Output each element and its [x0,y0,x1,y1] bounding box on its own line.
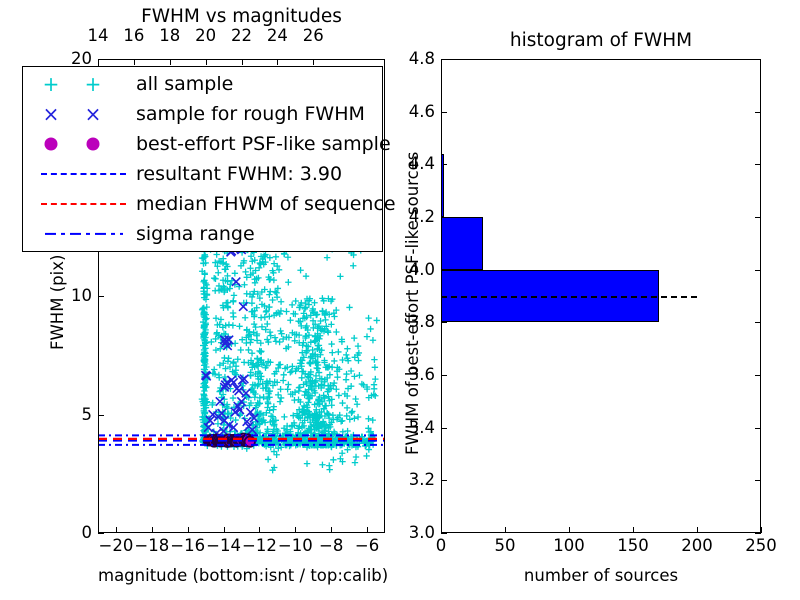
right-xaxis-label: number of sources [441,566,761,585]
legend-glyph-plus-icon: + [85,74,102,94]
figure-canvas: FWHM vs magnitudes 14161820222426 −20−18… [0,0,800,600]
scatter-point-plus [230,395,236,401]
scatter-point-plus [285,254,291,260]
scatter-point-plus [230,310,236,316]
legend-label: sample for rough FWHM [136,105,365,124]
scatter-point-plus [271,403,277,409]
scatter-point-plus [231,292,237,298]
legend-item-0[interactable]: ++all sample [31,69,382,99]
legend-glyph-cross-icon: × [85,104,102,124]
scatter-point-plus [363,453,369,459]
scatter-point-plus [242,315,248,321]
legend-glyph-dashed-line-icon [41,173,126,175]
scatter-point-plus [266,291,272,297]
scatter-point-plus [349,408,355,414]
scatter-point-plus [242,269,248,275]
scatter-point-plus [371,356,377,362]
scatter-point-plus [325,329,331,335]
right-x-tickmark [761,527,762,533]
legend-marker-dashed-line-icon [31,159,136,189]
scatter-point-plus [329,349,335,355]
legend-item-2[interactable]: best-effort PSF-like sample [31,129,382,159]
scatter-point-plus [251,321,257,327]
scatter-point-plus [249,350,255,356]
scatter-point-plus [215,270,221,276]
scatter-point-plus [355,343,361,349]
scatter-point-plus [213,315,219,321]
scatter-point-plus [277,386,283,392]
scatter-point-plus [230,322,236,328]
right-yaxis-label: FWHM of best-effort PSF-like sources [403,152,422,455]
scatter-point-plus [278,395,284,401]
scatter-point-plus [348,368,354,374]
scatter-point-plus [364,333,370,339]
scatter-point-plus [226,322,232,328]
scatter-point-plus [293,298,299,304]
legend-item-4[interactable]: median FHWM of sequence [31,189,382,219]
scatter-point-plus [335,349,341,355]
scatter-point-plus [344,428,350,434]
left-y-tick-0: 0 [12,523,92,542]
scatter-point-plus [328,341,334,347]
scatter-point-plus [280,377,286,383]
scatter-point-plus [287,369,293,375]
scatter-point-plus [212,336,218,342]
legend-entries: ++all sample××sample for rough FWHMbest-… [31,69,382,249]
scatter-point-plus [287,317,293,323]
right-y-tick-3.0: 3.0 [355,523,435,542]
scatter-point-plus [266,313,272,319]
legend-marker-dashed-line-icon [31,189,136,219]
scatter-point-plus [245,347,251,353]
legend-glyph-circle-icon [87,138,100,151]
legend-label: sigma range [136,225,255,244]
histogram-resultant-fwhm-line [442,296,697,298]
right-x-tick-250: 250 [721,536,800,555]
scatter-point-plus [304,460,310,466]
scatter-point-plus [324,254,330,260]
scatter-point-plus [249,300,255,306]
scatter-point-plus [291,397,297,403]
left-plot-title: FWHM vs magnitudes [98,6,385,27]
legend-glyph-dashdot-line-icon [45,233,123,235]
scatter-point-plus [232,270,238,276]
scatter-point-plus [317,318,323,324]
legend-marker-dashdot-line-icon [31,219,136,249]
scatter-point-plus [263,309,269,315]
scatter-point-plus [311,300,317,306]
scatter-point-plus [352,396,358,402]
scatter-point-plus [347,416,353,422]
histogram-data-layer [442,60,760,532]
scatter-point-plus [296,388,302,394]
scatter-point-plus [303,273,309,279]
right-y-tick-3.6: 3.6 [355,365,435,384]
scatter-point-plus [333,386,339,392]
scatter-point-plus [281,372,287,378]
right-y-tick-3.8: 3.8 [355,312,435,331]
scatter-point-plus [281,414,287,420]
legend-box[interactable]: ++all sample××sample for rough FWHMbest-… [22,66,383,252]
scatter-point-plus [370,337,376,343]
scatter-point-plus [337,273,343,279]
legend-item-3[interactable]: resultant FWHM: 3.90 [31,159,382,189]
scatter-point-plus [331,358,337,364]
scatter-point-plus [262,314,268,320]
scatter-point-plus [344,405,350,411]
scatter-point-plus [236,323,242,329]
legend-label: median FHWM of sequence [136,195,396,214]
scatter-point-plus [238,347,244,353]
legend-glyph-cross-icon: × [43,104,60,124]
scatter-point-plus [353,454,359,460]
left-y-tick-5: 5 [12,405,92,424]
legend-marker-plus-icon: ++ [31,69,136,99]
scatter-point-plus [344,345,350,351]
scatter-point-cross [235,387,243,395]
scatter-point-plus [330,457,336,463]
scatter-point-plus [343,371,349,377]
legend-item-1[interactable]: ××sample for rough FWHM [31,99,382,129]
scatter-point-plus [218,316,224,322]
scatter-point-plus [212,276,218,282]
left-y-tickmark [98,533,104,534]
scatter-point-plus [221,355,227,361]
scatter-point-plus [301,310,307,316]
legend-glyph-plus-icon: + [43,74,60,94]
scatter-point-plus [275,392,281,398]
scatter-point-plus [277,398,283,404]
right-y-tick-4.0: 4.0 [355,260,435,279]
scatter-point-plus [247,339,253,345]
scatter-point-plus [212,288,218,294]
scatter-point-plus [297,267,303,273]
scatter-point-plus [319,462,325,468]
right-y-tick-3.4: 3.4 [355,418,435,437]
scatter-point-plus [351,335,357,341]
scatter-point-plus [355,357,361,363]
scatter-point-plus [285,381,291,387]
scatter-point-plus [299,375,305,381]
scatter-point-plus [283,308,289,314]
left-top-tick-26: 26 [273,26,353,45]
right-y-tick-3.2: 3.2 [355,470,435,489]
legend-label: all sample [136,75,233,94]
scatter-point-plus [213,347,219,353]
legend-item-5[interactable]: sigma range [31,219,382,249]
scatter-point-plus [348,410,354,416]
scatter-point-plus [343,376,349,382]
scatter-point-plus [344,413,350,419]
scatter-point-plus [289,302,295,308]
scatter-point-plus [273,338,279,344]
scatter-point-plus [208,339,214,345]
scatter-point-plus [354,401,360,407]
legend-marker-circle-icon [31,129,136,159]
scatter-point-plus [339,450,345,456]
histogram-bar [442,154,444,217]
left-xaxis-label: magnitude (bottom:isnt / top:calib) [98,566,385,585]
scatter-point-plus [213,251,219,257]
scatter-point-plus [372,393,378,399]
legend-glyph-dashed-line-icon [41,203,126,205]
scatter-point-plus [258,349,264,355]
right-plot-title: histogram of FWHM [441,30,761,51]
scatter-point-plus [230,298,236,304]
scatter-point-plus [265,456,271,462]
legend-label: resultant FWHM: 3.90 [136,165,342,184]
scatter-point-plus [284,386,290,392]
scatter-point-plus [327,466,333,472]
scatter-point-plus [211,366,217,372]
legend-marker-cross-icon: ×× [31,99,136,129]
legend-label: best-effort PSF-like sample [136,135,391,154]
right-y-tickmark-right [755,533,761,534]
scatter-point-plus [339,400,345,406]
scatter-point-plus [244,291,250,297]
scatter-point-plus [241,359,247,365]
scatter-point-plus [285,279,291,285]
histogram-bar [442,217,483,270]
left-yaxis-label: FWHM (pix) [48,255,67,350]
right-y-tickmark [441,533,447,534]
legend-glyph-circle-icon [45,138,58,151]
scatter-point-plus [346,304,352,310]
scatter-point-plus [334,374,340,380]
scatter-point-plus [352,459,358,465]
scatter-point-plus [343,352,349,358]
scatter-point-plus [273,254,279,260]
scatter-point-plus [333,329,339,335]
scatter-point-plus [278,299,284,305]
scatter-point-plus [336,392,342,398]
